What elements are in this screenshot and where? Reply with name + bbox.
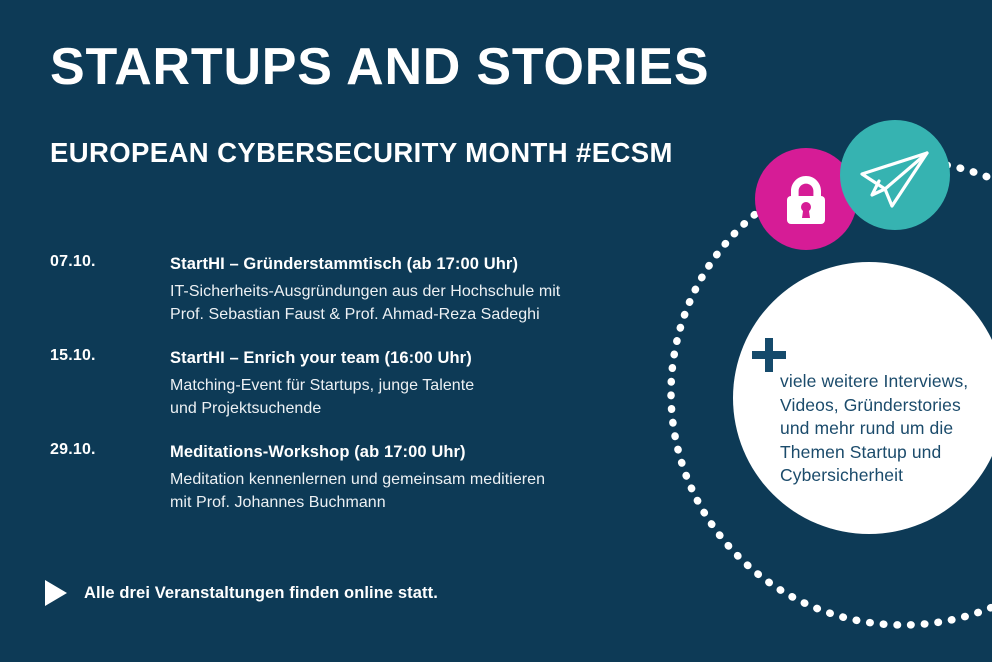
event-description: IT-Sicherheits-Ausgründungen aus der Hoc… — [170, 281, 670, 326]
event-title: StartHI – Gründerstammtisch (ab 17:00 Uh… — [170, 253, 670, 275]
event-body: StartHI – Gründerstammtisch (ab 17:00 Uh… — [170, 253, 670, 326]
list-item: 07.10. StartHI – Gründerstammtisch (ab 1… — [50, 253, 670, 326]
list-item: 15.10. StartHI – Enrich your team (16:00… — [50, 347, 670, 420]
event-description: Meditation kennenlernen und gemeinsam me… — [170, 469, 670, 514]
footer-note-label: Alle drei Veranstaltungen finden online … — [84, 584, 438, 603]
page-title: STARTUPS AND STORIES — [50, 38, 709, 96]
event-description: Matching-Event für Startups, junge Talen… — [170, 375, 670, 420]
event-title: StartHI – Enrich your team (16:00 Uhr) — [170, 347, 670, 369]
event-date: 29.10. — [50, 441, 96, 459]
event-body: Meditations-Workshop (ab 17:00 Uhr) Medi… — [170, 441, 670, 514]
plus-icon — [752, 338, 786, 372]
list-item: 29.10. Meditations-Workshop (ab 17:00 Uh… — [50, 441, 670, 514]
event-date: 15.10. — [50, 347, 96, 365]
lock-icon — [778, 172, 834, 228]
info-circle-text: viele weitere Interviews, Videos, Gründe… — [780, 370, 986, 488]
info-circle-content: viele weitere Interviews, Videos, Gründe… — [752, 338, 984, 488]
events-list: 07.10. StartHI – Gründerstammtisch (ab 1… — [50, 253, 670, 514]
poster-canvas: viele weitere Interviews, Videos, Gründe… — [0, 0, 992, 662]
event-date: 07.10. — [50, 253, 96, 271]
play-arrow-icon — [45, 580, 67, 606]
page-subtitle: EUROPEAN CYBERSECURITY MONTH #ECSM — [50, 136, 673, 170]
event-body: StartHI – Enrich your team (16:00 Uhr) M… — [170, 347, 670, 420]
footer-note: Alle drei Veranstaltungen finden online … — [45, 580, 438, 606]
paper-plane-icon — [858, 148, 932, 216]
event-title: Meditations-Workshop (ab 17:00 Uhr) — [170, 441, 670, 463]
